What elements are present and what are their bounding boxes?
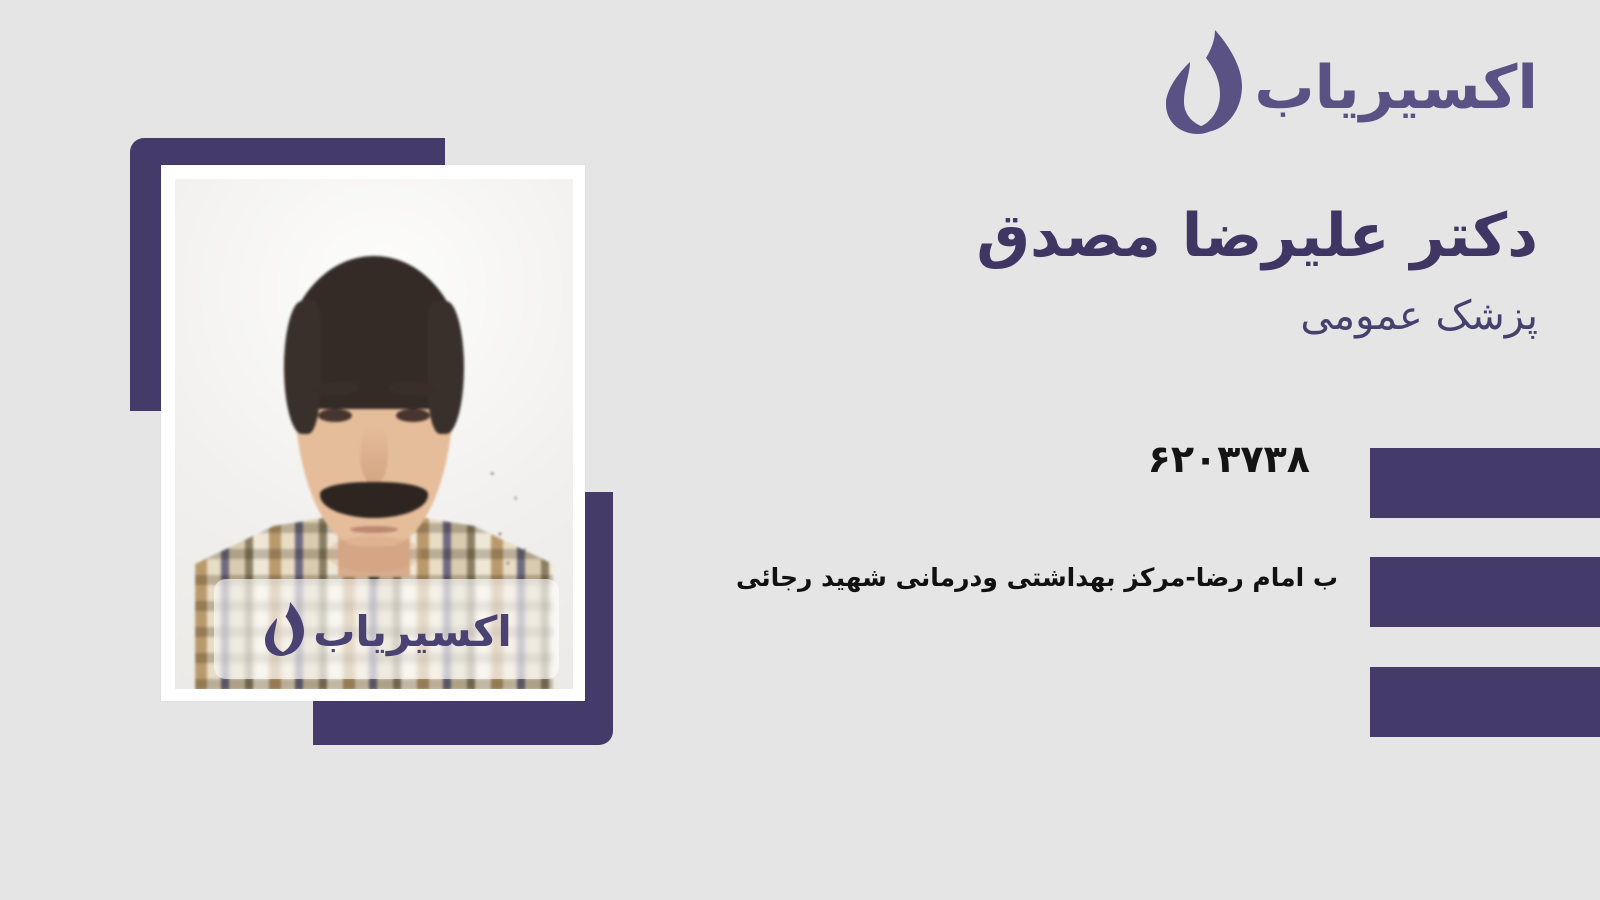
doctor-specialty: پزشک عمومی xyxy=(838,290,1538,342)
doctor-phone[interactable]: ۶۲۰۳۷۳۸ xyxy=(1148,437,1310,481)
watermark-text: اکسیریاب xyxy=(313,611,512,653)
decor-bar-3 xyxy=(1370,667,1600,737)
flame-droplet-icon xyxy=(1158,28,1244,136)
doctor-info-panel: دکتر علیرضا مصدق پزشک عمومی xyxy=(838,200,1538,342)
portrait-mouth xyxy=(350,526,398,533)
portrait-nose xyxy=(360,424,388,485)
doctor-name: دکتر علیرضا مصدق xyxy=(838,200,1538,272)
decor-bar-2 xyxy=(1370,557,1600,627)
portrait-eye-right xyxy=(396,409,430,422)
decor-bar-1 xyxy=(1370,448,1600,518)
portrait-chin xyxy=(326,536,422,572)
portrait-hair-right xyxy=(428,301,464,434)
portrait-eye-left xyxy=(318,409,352,422)
doctor-photo-card[interactable]: اکسیریاب xyxy=(161,165,585,701)
doctor-photo: اکسیریاب xyxy=(175,179,573,689)
photo-watermark: اکسیریاب xyxy=(214,579,559,679)
brand-wordmark: اکسیریاب xyxy=(1254,58,1538,118)
brand-logo[interactable]: اکسیریاب xyxy=(1158,26,1538,138)
photo-composition: اکسیریاب xyxy=(0,0,700,900)
portrait-hair-left xyxy=(284,301,320,434)
flame-droplet-icon xyxy=(261,601,305,657)
doctor-address: ب امام رضا-مرکز بهداشتی ودرمانی شهید رجا… xyxy=(736,563,1338,592)
doctor-profile-card: اکسیریاب xyxy=(0,0,1600,900)
portrait-specks xyxy=(481,460,537,572)
